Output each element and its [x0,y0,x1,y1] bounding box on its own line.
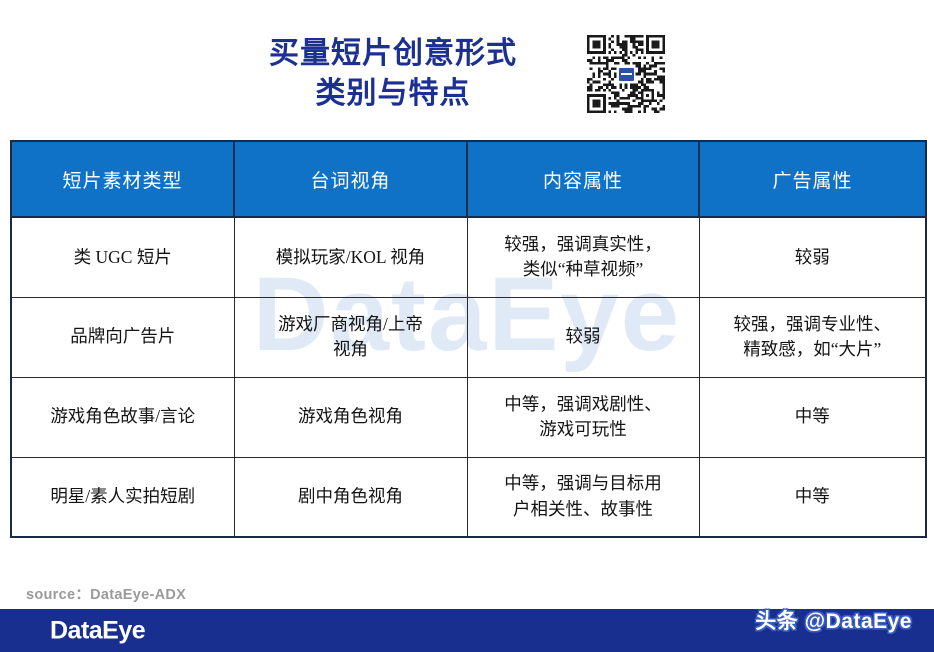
cell-text: 游戏角色故事/言论 [20,404,226,429]
cell-text: 游戏厂商视角/上帝 视角 [243,312,459,363]
cell-content-attribute: 较强，强调真实性， 类似“种草视频” [467,217,699,297]
cell-text: 游戏角色视角 [243,404,459,429]
cell-content-attribute: 中等，强调与目标用 户相关性、故事性 [467,457,699,537]
column-header-ad-attribute: 广告属性 [699,141,926,217]
cell-content-attribute: 中等，强调戏剧性、 游戏可玩性 [467,377,699,457]
cell-text: 较弱 [708,245,918,270]
column-header-material-type: 短片素材类型 [11,141,234,217]
qr-center-logo-icon [618,67,635,82]
cell-perspective: 游戏厂商视角/上帝 视角 [234,297,467,377]
table-row: 品牌向广告片 游戏厂商视角/上帝 视角 较弱 较强，强调专业性、 精致感，如“大… [11,297,926,377]
cell-text: 类 UGC 短片 [20,245,226,270]
cell-ad-attribute: 较弱 [699,217,926,297]
cell-text: 中等，强调戏剧性、 游戏可玩性 [476,392,691,443]
cell-material-type: 品牌向广告片 [11,297,234,377]
table-row: 游戏角色故事/言论 游戏角色视角 中等，强调戏剧性、 游戏可玩性 中等 [11,377,926,457]
brand-logo: DataEye [50,616,145,645]
column-header-dialogue-perspective: 台词视角 [234,141,467,217]
cell-text: 明星/素人实拍短剧 [20,484,226,509]
table-row: 明星/素人实拍短剧 剧中角色视角 中等，强调与目标用 户相关性、故事性 中等 [11,457,926,537]
cell-material-type: 类 UGC 短片 [11,217,234,297]
cell-text: 较强，强调专业性、 精致感，如“大片” [708,312,918,363]
cell-text: 中等 [708,484,918,509]
table-header-row: 短片素材类型 台词视角 内容属性 广告属性 [11,141,926,217]
cell-text: 中等 [708,404,918,429]
page-title-line-2: 类别与特点 [269,74,517,114]
cell-ad-attribute: 中等 [699,457,926,537]
cell-content-attribute: 较弱 [467,297,699,377]
source-label: source：DataEye-ADX [26,583,186,604]
cell-text: 品牌向广告片 [20,324,226,349]
cell-text: 剧中角色视角 [243,484,459,509]
cell-perspective: 游戏角色视角 [234,377,467,457]
cell-text: 中等，强调与目标用 户相关性、故事性 [476,471,691,522]
table-row: 类 UGC 短片 模拟玩家/KOL 视角 较强，强调真实性， 类似“种草视频” … [11,217,926,297]
table-container: 短片素材类型 台词视角 内容属性 广告属性 类 UGC 短片 模拟玩家/KOL … [10,140,925,538]
column-header-content-attribute: 内容属性 [467,141,699,217]
cell-text: 较强，强调真实性， 类似“种草视频” [476,232,691,283]
cell-material-type: 明星/素人实拍短剧 [11,457,234,537]
page-title-line-1: 买量短片创意形式 [269,37,517,70]
cell-material-type: 游戏角色故事/言论 [11,377,234,457]
cell-perspective: 模拟玩家/KOL 视角 [234,217,467,297]
page-header: 买量短片创意形式 类别与特点 [0,0,934,140]
cell-text: 模拟玩家/KOL 视角 [243,245,459,270]
cell-ad-attribute: 较强，强调专业性、 精致感，如“大片” [699,297,926,377]
cell-text: 较弱 [476,324,691,349]
creative-format-table: 短片素材类型 台词视角 内容属性 广告属性 类 UGC 短片 模拟玩家/KOL … [10,140,927,538]
page-title: 买量短片创意形式 类别与特点 [269,34,517,114]
corner-watermark: 头条 @DataEye [755,605,912,635]
cell-perspective: 剧中角色视角 [234,457,467,537]
cell-ad-attribute: 中等 [699,377,926,457]
qr-code-icon[interactable] [587,35,665,113]
